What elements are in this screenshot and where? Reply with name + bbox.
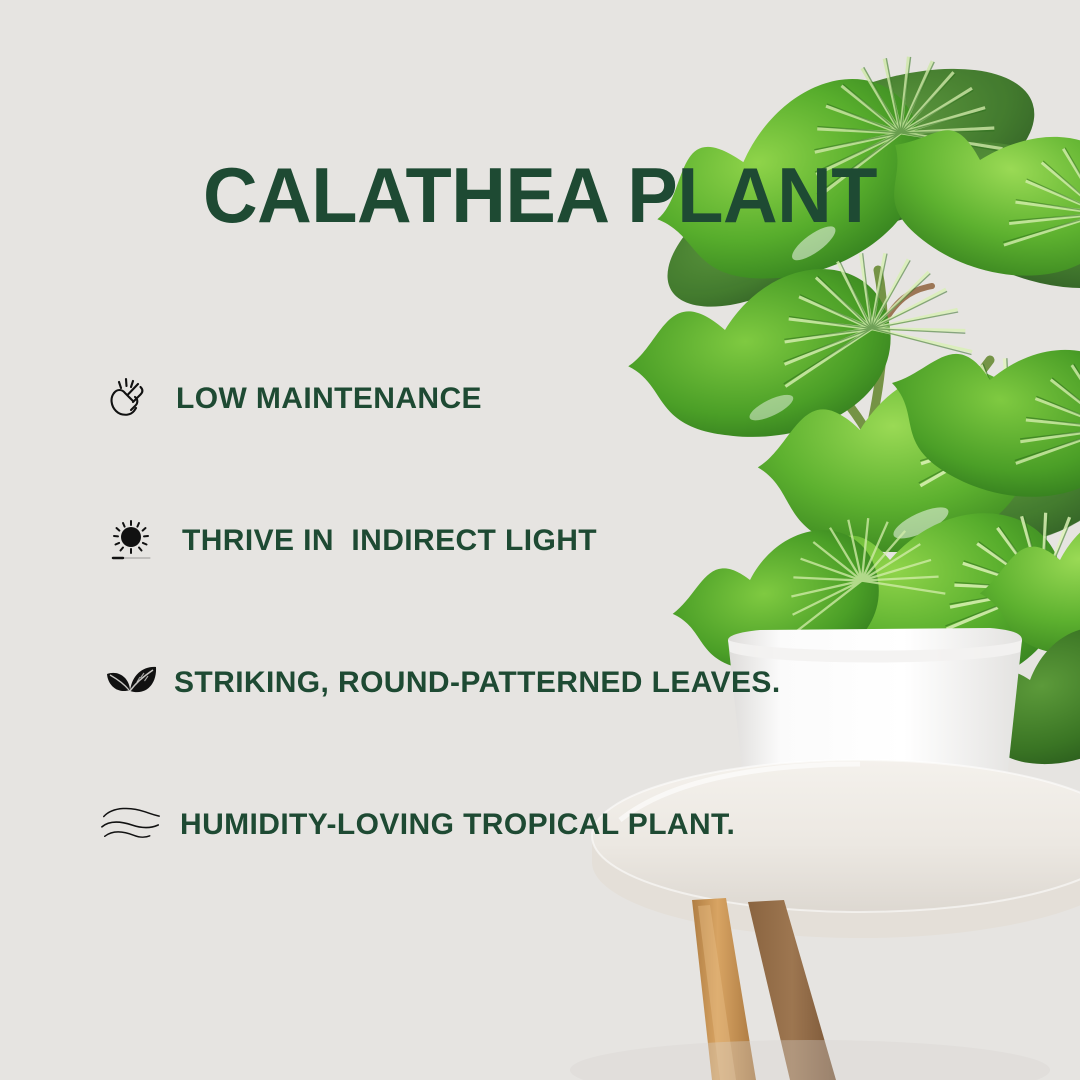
feature-item-low-maintenance: LOW MAINTENANCE xyxy=(100,368,482,430)
feature-label: HUMIDITY-LOVING TROPICAL PLANT. xyxy=(180,810,735,840)
feature-label: LOW MAINTENANCE xyxy=(176,384,482,414)
leaves-icon xyxy=(100,652,162,714)
feature-label: STRIKING, ROUND-PATTERNED LEAVES. xyxy=(174,668,781,698)
poster-canvas: CALATHEA PLANT LOW MAINTENANCE xyxy=(0,0,1080,1080)
sun-icon xyxy=(100,510,162,572)
wind-waves-icon xyxy=(100,794,162,856)
page-title: CALATHEA PLANT xyxy=(16,156,1064,234)
feature-item-indirect-light: THRIVE IN INDIRECT LIGHT xyxy=(100,510,597,572)
snap-fingers-icon xyxy=(100,368,162,430)
feature-label: THRIVE IN INDIRECT LIGHT xyxy=(182,526,597,556)
feature-item-patterned-leaves: STRIKING, ROUND-PATTERNED LEAVES. xyxy=(100,652,781,714)
feature-item-humidity: HUMIDITY-LOVING TROPICAL PLANT. xyxy=(100,794,735,856)
